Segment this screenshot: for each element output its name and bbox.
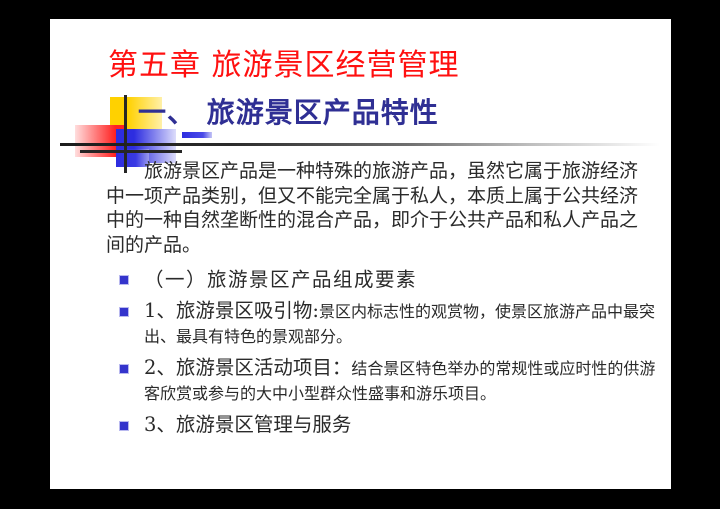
list-item-lead: 1、旅游景区吸引物: bbox=[144, 299, 319, 322]
body-paragraph: 旅游景区产品是一种特殊的旅游产品，虽然它属于旅游经济中一项产品类别，但又不能完全… bbox=[106, 159, 646, 257]
list-item: 3、旅游景区管理与服务 bbox=[106, 413, 666, 437]
bullet-list: （一）旅游景区产品组成要素 1、旅游景区吸引物:景区内标志性的观赏物，使景区旅游… bbox=[106, 268, 666, 444]
square-bullet-icon bbox=[120, 365, 128, 373]
list-item: 2、旅游景区活动项目：结合景区特色举办的常规性或应时性的供游客欣赏或参与的大中小… bbox=[106, 356, 666, 406]
list-item-lead: （一）旅游景区产品组成要素 bbox=[144, 268, 417, 291]
square-bullet-icon bbox=[120, 276, 128, 284]
page-title: 第五章 旅游景区经营管理 bbox=[108, 46, 460, 86]
list-item-text: 1、旅游景区吸引物:景区内标志性的观赏物，使景区旅游产品中最突出、最具有特色的景… bbox=[144, 299, 666, 349]
deco-horizontal-bar bbox=[80, 150, 182, 153]
deco-blue-dash bbox=[182, 132, 212, 138]
list-item-text: 3、旅游景区管理与服务 bbox=[144, 413, 666, 437]
list-item: （一）旅游景区产品组成要素 bbox=[106, 268, 666, 292]
square-bullet-icon bbox=[120, 308, 128, 316]
list-item-text: 2、旅游景区活动项目：结合景区特色举办的常规性或应时性的供游客欣赏或参与的大中小… bbox=[144, 356, 666, 406]
presentation-slide: 第五章 旅游景区经营管理 一、 旅游景区产品特性 旅游景区产品是一种特殊的旅游产… bbox=[50, 19, 671, 489]
heading-underline-rule bbox=[60, 143, 660, 146]
list-item-lead: 3、旅游景区管理与服务 bbox=[144, 413, 351, 436]
list-item-lead: 2、旅游景区活动项目： bbox=[144, 356, 351, 379]
list-item: 1、旅游景区吸引物:景区内标志性的观赏物，使景区旅游产品中最突出、最具有特色的景… bbox=[106, 299, 666, 349]
section-heading: 一、 旅游景区产品特性 bbox=[138, 94, 439, 132]
list-item-text: （一）旅游景区产品组成要素 bbox=[144, 268, 666, 292]
letterbox-viewport: 第五章 旅游景区经营管理 一、 旅游景区产品特性 旅游景区产品是一种特殊的旅游产… bbox=[0, 0, 720, 509]
square-bullet-icon bbox=[120, 422, 128, 430]
